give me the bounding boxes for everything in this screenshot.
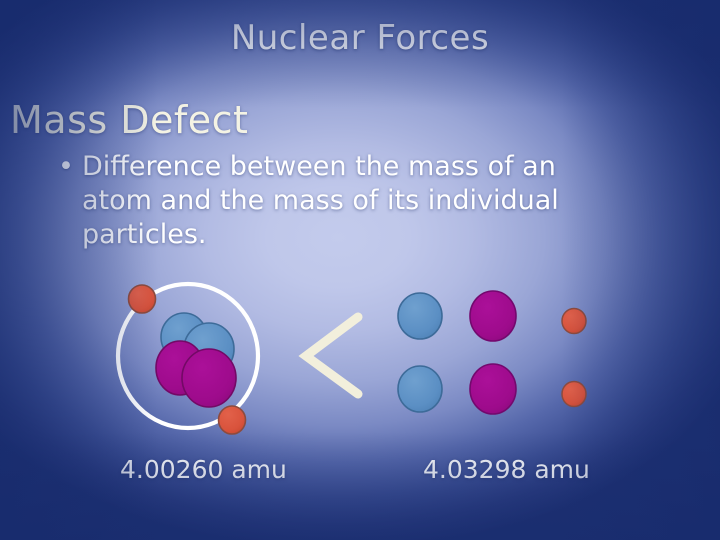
separated-particles-group [398,291,586,414]
neutron-particle [398,293,442,339]
electron-particle [562,382,586,407]
proton-particle [470,364,516,414]
left-mass-label: 4.00260 amu [120,455,287,484]
electron-particle [562,309,586,334]
neutron-particle [398,366,442,412]
slide-canvas: Nuclear Forces Mass Defect • Difference … [0,0,720,540]
proton-particle [182,349,236,407]
electron-particle [129,285,156,313]
less-than-symbol [306,317,358,394]
mass-defect-diagram [0,0,720,540]
electron-particle [219,406,246,434]
atom-left-group [118,284,258,434]
right-mass-label: 4.03298 amu [423,455,590,484]
proton-particle [470,291,516,341]
